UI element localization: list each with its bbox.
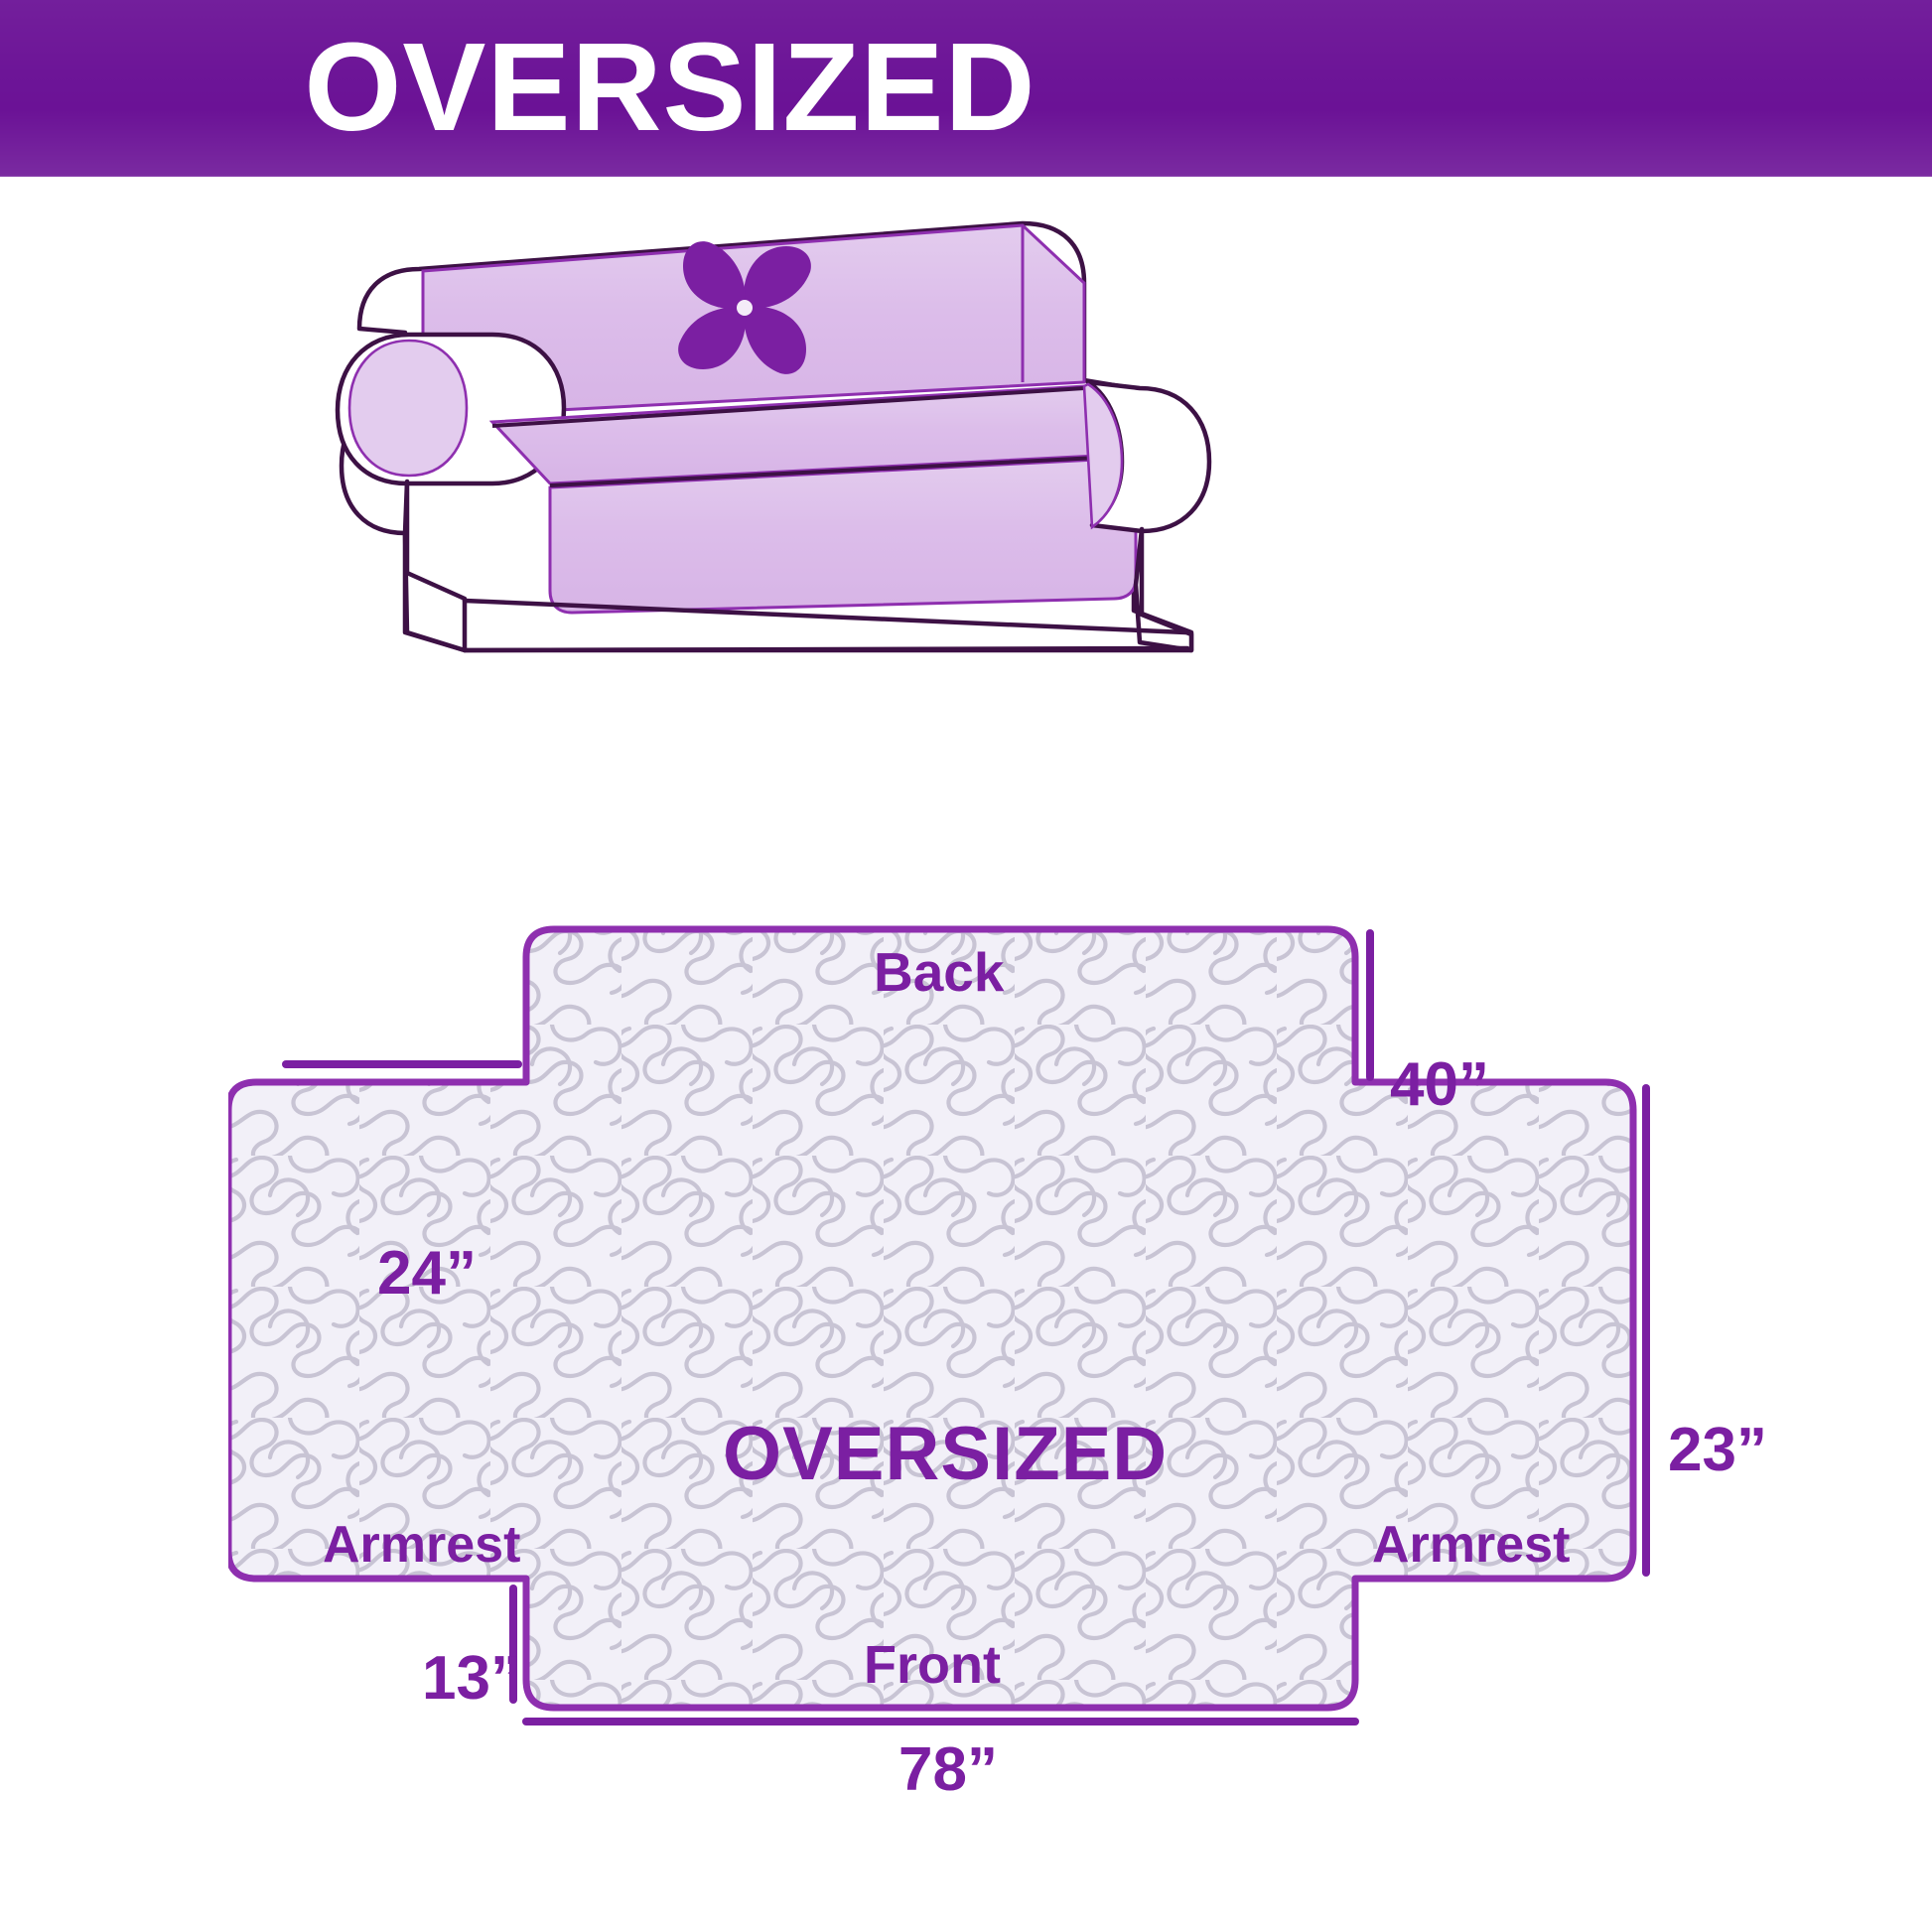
dimension-label-total-width: 78”	[898, 1739, 998, 1801]
dimension-label-back-height: 40”	[1390, 1054, 1489, 1116]
panel-label-armrest-right: Armrest	[1372, 1519, 1570, 1571]
cover-outline-shape	[228, 929, 1633, 1708]
dimension-label-armrest-depth: 24”	[377, 1243, 477, 1305]
dimension-label-front-skirt: 13”	[422, 1648, 521, 1710]
dimension-label-armrest-height: 23”	[1668, 1420, 1767, 1481]
sofa-illustration	[298, 184, 1291, 690]
panel-label-front: Front	[864, 1638, 1001, 1692]
header-banner: OVERSIZED	[0, 0, 1932, 177]
pinwheel-hub	[737, 300, 753, 316]
page-title: OVERSIZED	[0, 8, 1340, 167]
panel-label-armrest-left: Armrest	[323, 1519, 520, 1571]
left-armrest-inner-roll	[349, 341, 467, 476]
sofa-base-front-rail	[465, 648, 1187, 650]
panel-label-back: Back	[874, 945, 1004, 1000]
panel-label-oversized: OVERSIZED	[723, 1417, 1168, 1492]
